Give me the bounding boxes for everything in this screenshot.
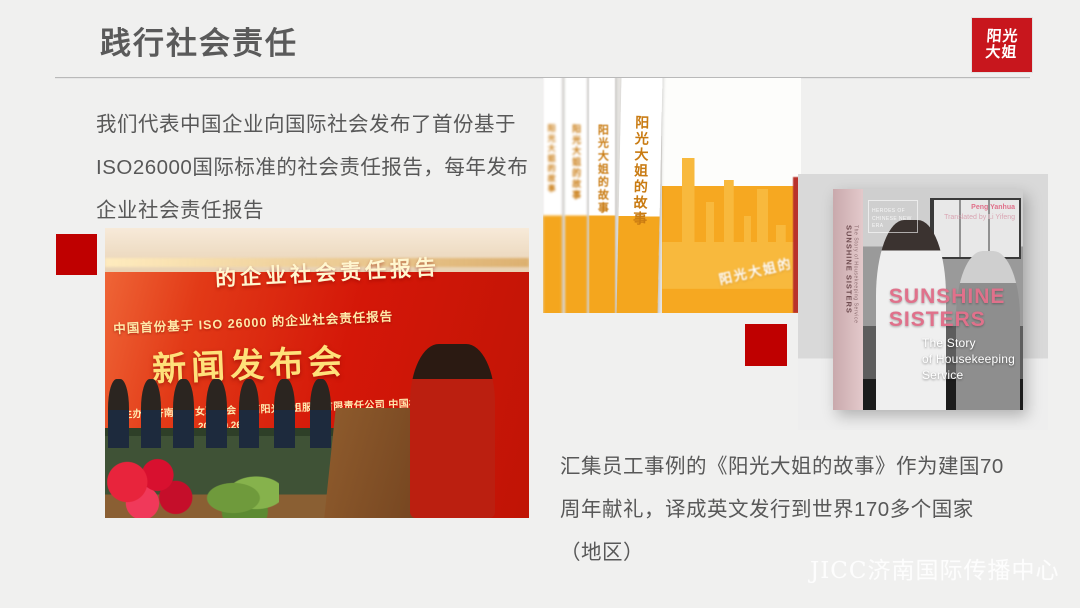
book-spine-title: 阳光大姐的故事 [629,114,651,226]
photo-press-conference: 的企业社会责任报告 中国首份基于 ISO 26000 的企业社会责任报告 新闻发… [105,228,529,518]
book-spine: 阳光大姐的故事 [616,78,663,313]
book-spine: 阳光大姐的故事 [589,78,615,313]
book-spines-scene: 阳光大姐的故事 阳光大姐的故事 阳光大姐的故事 阳光大姐的故事 阳光大姐的 [543,78,801,313]
watermark: JICC济南国际传播中心 [810,551,1060,585]
press-speaker [410,344,495,518]
cover-subtitle-line2: of Housekeeping [922,351,1015,367]
page-title: 践行社会责任 [100,25,298,62]
brand-logo-line2: 大姐 [985,45,1018,61]
english-book-front-cover: HEROES OF CHINESE NEW ERA Peng Yanhua Tr… [863,189,1023,409]
brand-logo: 阳光 大姐 [972,18,1032,72]
photo-english-book: SUNSHINE SISTERS The Story of Housekeepi… [798,174,1048,430]
cover-title-line2: SISTERS [889,309,1006,332]
brand-logo-glyphs: 阳光 大姐 [985,29,1019,61]
cover-author-block: Peng Yanhua Translated by Li Yifeng [944,203,1015,224]
banner-headline: 中国首份基于 ISO 26000 的企业社会责任报告 [113,300,520,337]
book-spine-title: 阳光大姐的故事 [547,124,558,194]
press-flowers [105,454,198,518]
accent-square-right [745,324,787,366]
paragraph-left: 我们代表中国企业向国际社会发布了首份基于ISO26000国际标准的社会责任报告，… [96,103,546,232]
cover-author: Peng Yanhua [944,203,1015,214]
photo-book-spines: 阳光大姐的故事 阳光大姐的故事 阳光大姐的故事 阳光大姐的故事 阳光大姐的 [543,78,801,313]
slide-root: 践行社会责任 阳光 大姐 我们代表中国企业向国际社会发布了首份基于ISO2600… [0,0,1080,608]
book-spine-title: 阳光大姐的故事 [594,124,610,215]
cover-series-badge: HEROES OF CHINESE NEW ERA [868,200,918,233]
cover-subtitle-line1: The Story [922,335,1015,351]
accent-square-left [56,234,97,275]
english-book-body: SUNSHINE SISTERS The Story of Housekeepi… [833,189,1023,409]
cover-subtitle-line3: Service [922,367,1015,383]
press-plant [203,472,279,518]
press-scene: 的企业社会责任报告 中国首份基于 ISO 26000 的企业社会责任报告 新闻发… [105,228,529,518]
cover-subtitle: The Story of Housekeeping Service [922,335,1015,384]
cover-title-line1: SUNSHINE [889,286,1006,309]
english-book-spine-subtitle: The Story of Housekeeping Service [852,225,858,323]
cover-title: SUNSHINE SISTERS [889,286,1006,331]
cover-translator: Translated by Li Yifeng [944,213,1015,224]
book-spine: 阳光大姐的故事 [565,78,587,313]
book-spine: 阳光大姐的故事 [543,78,562,313]
book-spine-title: 阳光大姐的故事 [569,124,582,201]
cover-series-badge-text: HEROES OF CHINESE NEW ERA [872,208,917,231]
english-book-spine: SUNSHINE SISTERS The Story of Housekeepi… [833,189,863,409]
english-book-scene: SUNSHINE SISTERS The Story of Housekeepi… [798,174,1048,430]
